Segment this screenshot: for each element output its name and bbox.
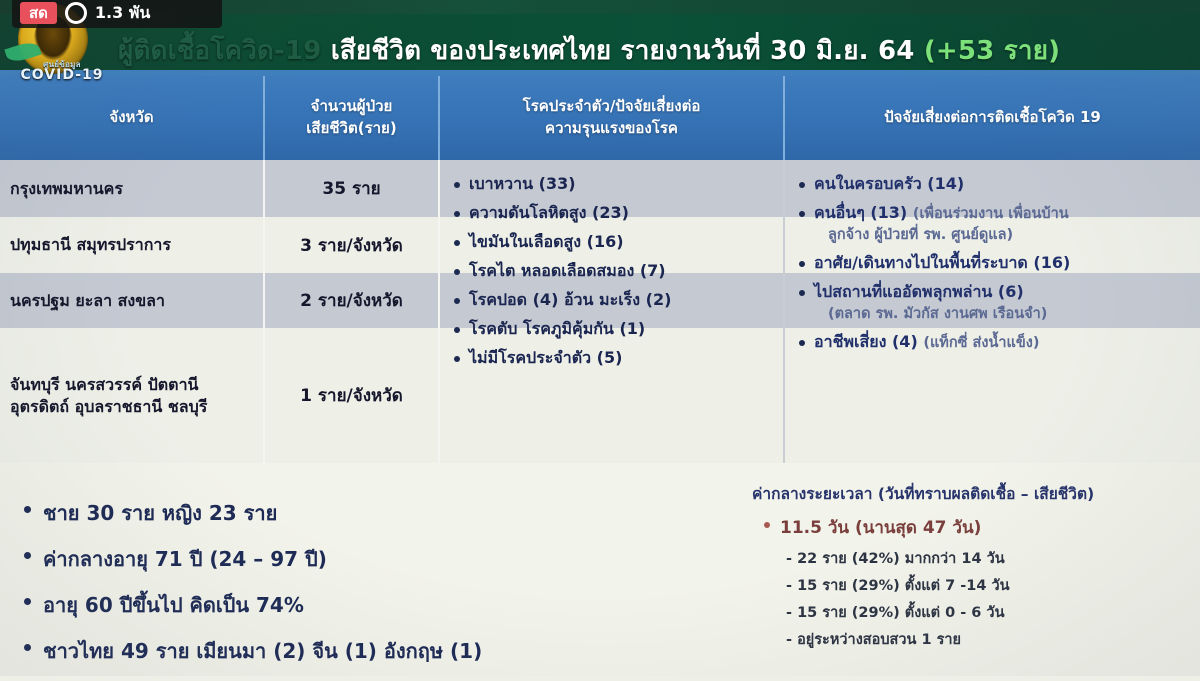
table-body: กรุงเทพมหานคร 35 ราย ปทุมธานี สมุทรปรากา… — [0, 160, 1200, 463]
duration-breakdown-item: - 15 ราย (29%) ตั้งแต่ 7 -14 วัน — [786, 574, 1192, 597]
summary-item-label: ค่ากลางอายุ 71 ปี (24 – 97 ปี) — [43, 543, 327, 575]
median-duration-breakdown: - 22 ราย (42%) มากกว่า 14 วัน- 15 ราย (2… — [752, 547, 1192, 651]
summary-item: อายุ 60 ปีขึ้นไป คิดเป็น 74% — [24, 589, 724, 621]
comorbidity-item: โรคปอด (4) อ้วน มะเร็ง (2) — [454, 290, 777, 310]
comorbidity-item: ไขมันในเลือดสูง (16) — [454, 232, 777, 252]
median-duration-row: 11.5 วัน (นานสุด 47 วัน) — [764, 514, 1192, 541]
live-badge: สด — [20, 2, 57, 24]
live-ring-icon — [65, 2, 87, 24]
median-duration-value: 11.5 วัน (นานสุด 47 วัน) — [780, 514, 981, 541]
page-title-delta: (+53 ราย) — [924, 36, 1060, 66]
bullet-dot-icon — [24, 552, 31, 559]
median-duration-title: ค่ากลางระยะเวลา (วันที่ทราบผลติดเชื้อ – … — [752, 481, 1192, 506]
risk-factor-note: (ตลาด รพ. มัวกัส งานศพ เรือนจำ) — [828, 305, 1192, 323]
table-header-row: จังหวัด จำนวนผู้ป่วย เสียชีวิต(ราย) โรคป… — [0, 76, 1200, 160]
bullet-dot-icon — [799, 182, 805, 188]
comorbidity-item: ไม่มีโรคประจำตัว (5) — [454, 348, 777, 368]
comorbidity-label: เบาหวาน (33) — [469, 174, 576, 194]
comorbidity-label: ความดันโลหิตสูง (23) — [469, 203, 629, 223]
cell-death-count: 1 ราย/จังหวัด — [265, 328, 440, 463]
duration-breakdown-item: - 22 ราย (42%) มากกว่า 14 วัน — [786, 547, 1192, 570]
bullet-dot-icon — [454, 327, 460, 333]
cell-death-count: 3 ราย/จังหวัด — [265, 217, 440, 273]
column-header-province: จังหวัด — [0, 76, 265, 160]
cell-death-count: 35 ราย — [265, 160, 440, 217]
bullet-dot-icon — [799, 211, 805, 217]
bullet-dot-icon — [454, 269, 460, 275]
bullet-dot-icon — [454, 356, 460, 362]
bullet-dot-icon — [24, 506, 31, 513]
risk-factor-label: ไปสถานที่แออัดพลุกพล่าน (6) — [814, 282, 1024, 302]
risk-factor-label: คนอื่นๆ (13) (เพื่อนร่วมงาน เพื่อนบ้าน — [814, 203, 1069, 223]
summary-item-label: ชาย 30 ราย หญิง 23 ราย — [43, 497, 277, 529]
duration-breakdown-item: - 15 ราย (29%) ตั้งแต่ 0 - 6 วัน — [786, 601, 1192, 624]
summary-item-label: ชาวไทย 49 ราย เมียนมา (2) จีน (1) อังกฤษ… — [43, 635, 482, 667]
cell-death-count: 2 ราย/จังหวัด — [265, 273, 440, 328]
bullet-dot-icon — [799, 261, 805, 267]
bullet-dot-icon — [24, 598, 31, 605]
comorbidity-item: ความดันโลหิตสูง (23) — [454, 203, 777, 223]
risk-factor-item: อาชีพเสี่ยง (4) (แท็กซี่ ส่งน้ำแข็ง) — [799, 332, 1192, 352]
bullet-dot-icon — [454, 182, 460, 188]
cell-province: ปทุมธานี สมุทรปราการ — [0, 217, 265, 273]
cell-province: นครปฐม ยะลา สงขลา — [0, 273, 265, 328]
comorbidity-label: โรคไต หลอดเลือดสมอง (7) — [469, 261, 666, 281]
comorbidity-label: ไขมันในเลือดสูง (16) — [469, 232, 624, 252]
risk-factor-item: ไปสถานที่แออัดพลุกพล่าน (6) — [799, 282, 1192, 302]
comorbidity-item: โรคตับ โรคภูมิคุ้มกัน (1) — [454, 319, 777, 339]
bullet-dot-icon — [799, 290, 805, 296]
risk-factor-item: คนในครอบครัว (14) — [799, 174, 1192, 194]
comorbidity-item: โรคไต หลอดเลือดสมอง (7) — [454, 261, 777, 281]
bullet-dot-icon — [454, 211, 460, 217]
summary-left-list: ชาย 30 ราย หญิง 23 รายค่ากลางอายุ 71 ปี … — [24, 497, 724, 681]
infection-risk-list: คนในครอบครัว (14)คนอื่นๆ (13) (เพื่อนร่ว… — [785, 160, 1200, 463]
comorbidity-list: เบาหวาน (33)ความดันโลหิตสูง (23)ไขมันในเ… — [440, 160, 785, 463]
summary-item-label: อายุ 60 ปีขึ้นไป คิดเป็น 74% — [43, 589, 304, 621]
bullet-dot-icon — [454, 298, 460, 304]
bullet-dot-icon — [24, 644, 31, 651]
cell-province: จันทบุรี นครสวรรค์ ปัตตานี อุตรดิตถ์ อุบ… — [0, 328, 265, 463]
comorbidity-item: เบาหวาน (33) — [454, 174, 777, 194]
risk-factor-label: อาชีพเสี่ยง (4) (แท็กซี่ ส่งน้ำแข็ง) — [814, 332, 1039, 352]
bullet-dot-icon — [799, 340, 805, 346]
page-title-occluded-part: ผู้ติดเชื้อโควิด-19 — [118, 36, 331, 66]
comorbidity-label: ไม่มีโรคประจำตัว (5) — [469, 348, 622, 368]
bullet-dot-icon — [454, 240, 460, 246]
page-title-main: เสียชีวิต ของประเทศไทย รายงานวันที่ 30 ม… — [331, 36, 924, 66]
viewer-count-label: 1.3 พัน — [95, 1, 150, 26]
column-header-comorbidity: โรคประจำตัว/ปัจจัยเสี่ยงต่อ ความรุนแรงขอ… — [440, 76, 785, 160]
merged-right-columns: เบาหวาน (33)ความดันโลหิตสูง (23)ไขมันในเ… — [440, 160, 1200, 463]
comorbidity-label: โรคปอด (4) อ้วน มะเร็ง (2) — [469, 290, 671, 310]
page-title: ผู้ติดเชื้อโควิด-19 เสียชีวิต ของประเทศไ… — [118, 30, 1178, 70]
risk-factor-label: อาศัย/เดินทางไปในพื้นที่ระบาด (16) — [814, 253, 1070, 273]
risk-factor-label: คนในครอบครัว (14) — [814, 174, 964, 194]
risk-factor-note: ลูกจ้าง ผู้ป่วยที่ รพ. ศูนย์ดูแล) — [828, 226, 1192, 244]
comorbidity-label: โรคตับ โรคภูมิคุ้มกัน (1) — [469, 319, 645, 339]
summary-right-block: ค่ากลางระยะเวลา (วันที่ทราบผลติดเชื้อ – … — [752, 481, 1192, 655]
deaths-table: จังหวัด จำนวนผู้ป่วย เสียชีวิต(ราย) โรคป… — [0, 76, 1200, 463]
bullet-dot-icon — [764, 522, 770, 528]
risk-factor-item: คนอื่นๆ (13) (เพื่อนร่วมงาน เพื่อนบ้าน — [799, 203, 1192, 223]
summary-section: ชาย 30 ราย หญิง 23 รายค่ากลางอายุ 71 ปี … — [0, 463, 1200, 676]
logo-covid-label: COVID-19 — [14, 67, 110, 83]
risk-factor-item: อาศัย/เดินทางไปในพื้นที่ระบาด (16) — [799, 253, 1192, 273]
summary-item: ชาวไทย 49 ราย เมียนมา (2) จีน (1) อังกฤษ… — [24, 635, 724, 667]
summary-item: ชาย 30 ราย หญิง 23 ราย — [24, 497, 724, 529]
live-viewer-overlay[interactable]: สด 1.3 พัน — [12, 0, 222, 28]
summary-item: ค่ากลางอายุ 71 ปี (24 – 97 ปี) — [24, 543, 724, 575]
column-header-death-count: จำนวนผู้ป่วย เสียชีวิต(ราย) — [265, 76, 440, 160]
duration-breakdown-item: - อยู่ระหว่างสอบสวน 1 ราย — [786, 628, 1192, 651]
cell-province: กรุงเทพมหานคร — [0, 160, 265, 217]
column-header-infection-risk: ปัจจัยเสี่ยงต่อการติดเชื้อโควิด 19 — [785, 76, 1200, 160]
